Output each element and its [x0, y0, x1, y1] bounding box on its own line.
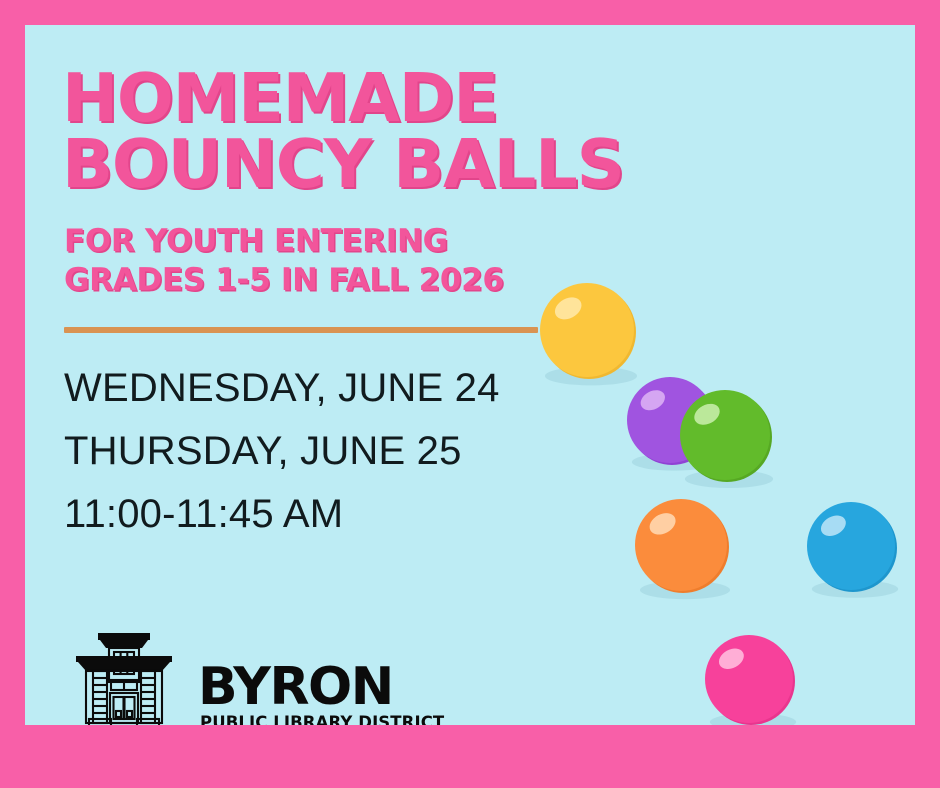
audience-subheading: FOR YOUTH ENTERING GRADES 1-5 IN FALL 20… [64, 222, 582, 301]
library-logo: BYRON PUBLIC LIBRARY DISTRICT [62, 623, 444, 725]
pink-ball [705, 635, 796, 725]
orange-ball [635, 499, 730, 599]
poster-canvas: HOMEMADE BOUNCY BALLS FOR YOUTH ENTERING… [25, 25, 915, 725]
logo-name: BYRON [198, 663, 444, 712]
subhead-line-2: GRADES 1-5 IN FALL 2026 [64, 261, 582, 300]
page-title: HOMEMADE BOUNCY BALLS [62, 65, 582, 198]
logo-tagline: PUBLIC LIBRARY DISTRICT [200, 715, 444, 726]
text-column: HOMEMADE BOUNCY BALLS FOR YOUTH ENTERING… [62, 65, 582, 546]
event-time: 11:00-11:45 AM [64, 483, 582, 546]
logo-wordmark: BYRON PUBLIC LIBRARY DISTRICT [198, 663, 444, 725]
headline-line-2: BOUNCY BALLS [62, 131, 582, 197]
section-divider [64, 327, 538, 333]
event-details: WEDNESDAY, JUNE 24 THURSDAY, JUNE 25 11:… [64, 357, 582, 545]
event-date-2: THURSDAY, JUNE 25 [64, 420, 582, 483]
subhead-line-1: FOR YOUTH ENTERING [64, 222, 582, 261]
green-ball [680, 390, 773, 488]
poster-frame: HOMEMADE BOUNCY BALLS FOR YOUTH ENTERING… [0, 0, 940, 788]
purple-ball [627, 377, 716, 471]
event-date-1: WEDNESDAY, JUNE 24 [64, 357, 582, 420]
library-building-icon [62, 623, 186, 725]
blue-ball [807, 502, 898, 598]
